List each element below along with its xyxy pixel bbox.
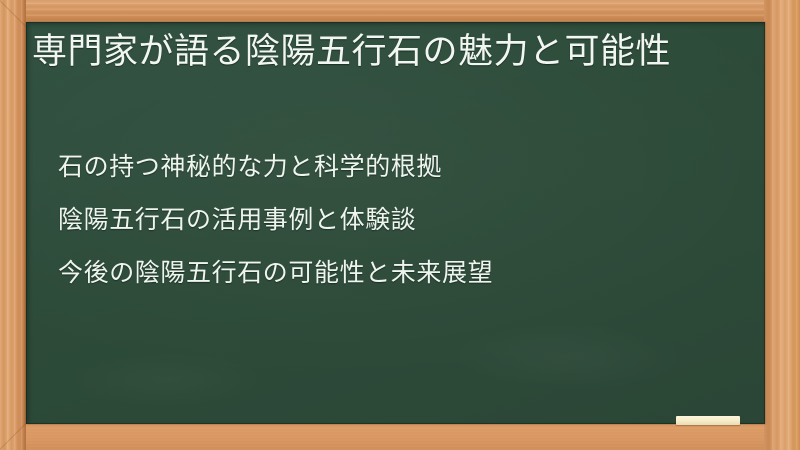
- frame-rail-top: [0, 0, 800, 22]
- chalkboard-surface: 専門家が語る陰陽五行石の魅力と可能性 石の持つ神秘的な力と科学的根拠 陰陽五行石…: [26, 22, 765, 424]
- chalkboard-slide: 専門家が語る陰陽五行石の魅力と可能性 石の持つ神秘的な力と科学的根拠 陰陽五行石…: [0, 0, 800, 450]
- frame-ledge-bottom: [0, 424, 800, 450]
- frame-stile-right: [764, 0, 800, 450]
- bullet-item-3: 今後の陰陽五行石の可能性と未来展望: [58, 258, 738, 311]
- slide-bullet-list: 石の持つ神秘的な力と科学的根拠 陰陽五行石の活用事例と体験談 今後の陰陽五行石の…: [58, 152, 738, 311]
- chalk-smudge: [66, 352, 266, 407]
- chalk-stick: [676, 416, 740, 425]
- frame-stile-left: [0, 0, 26, 450]
- bullet-item-1: 石の持つ神秘的な力と科学的根拠: [58, 152, 738, 205]
- chalk-smudge: [446, 322, 686, 392]
- bullet-item-2: 陰陽五行石の活用事例と体験談: [58, 205, 738, 258]
- slide-title: 専門家が語る陰陽五行石の魅力と可能性: [32, 30, 732, 74]
